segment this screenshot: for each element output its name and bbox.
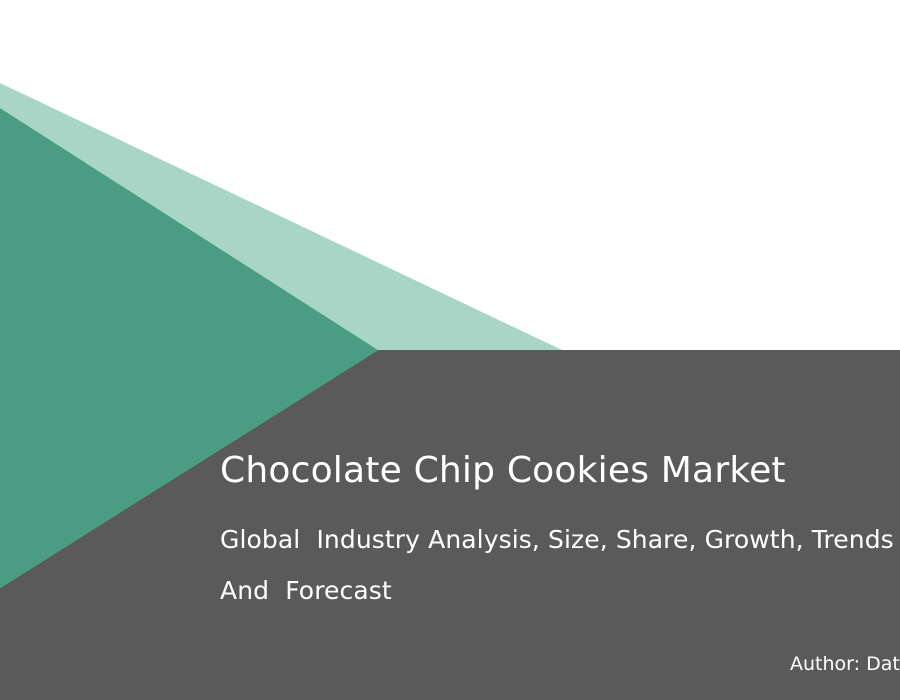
subtitle-line-1: Global Industry Analysis, Size, Share, G… [220,525,894,554]
author-label: Author: Data [790,652,900,676]
page-title: Chocolate Chip Cookies Market [220,448,900,494]
subtitle-line-2: And Forecast [220,576,392,605]
report-cover-slide: Chocolate Chip Cookies Market Global Ind… [0,0,900,700]
report-subtitle: Global Industry Analysis, Size, Share, G… [220,514,900,616]
title-text-block: Chocolate Chip Cookies Market Global Ind… [220,448,900,616]
